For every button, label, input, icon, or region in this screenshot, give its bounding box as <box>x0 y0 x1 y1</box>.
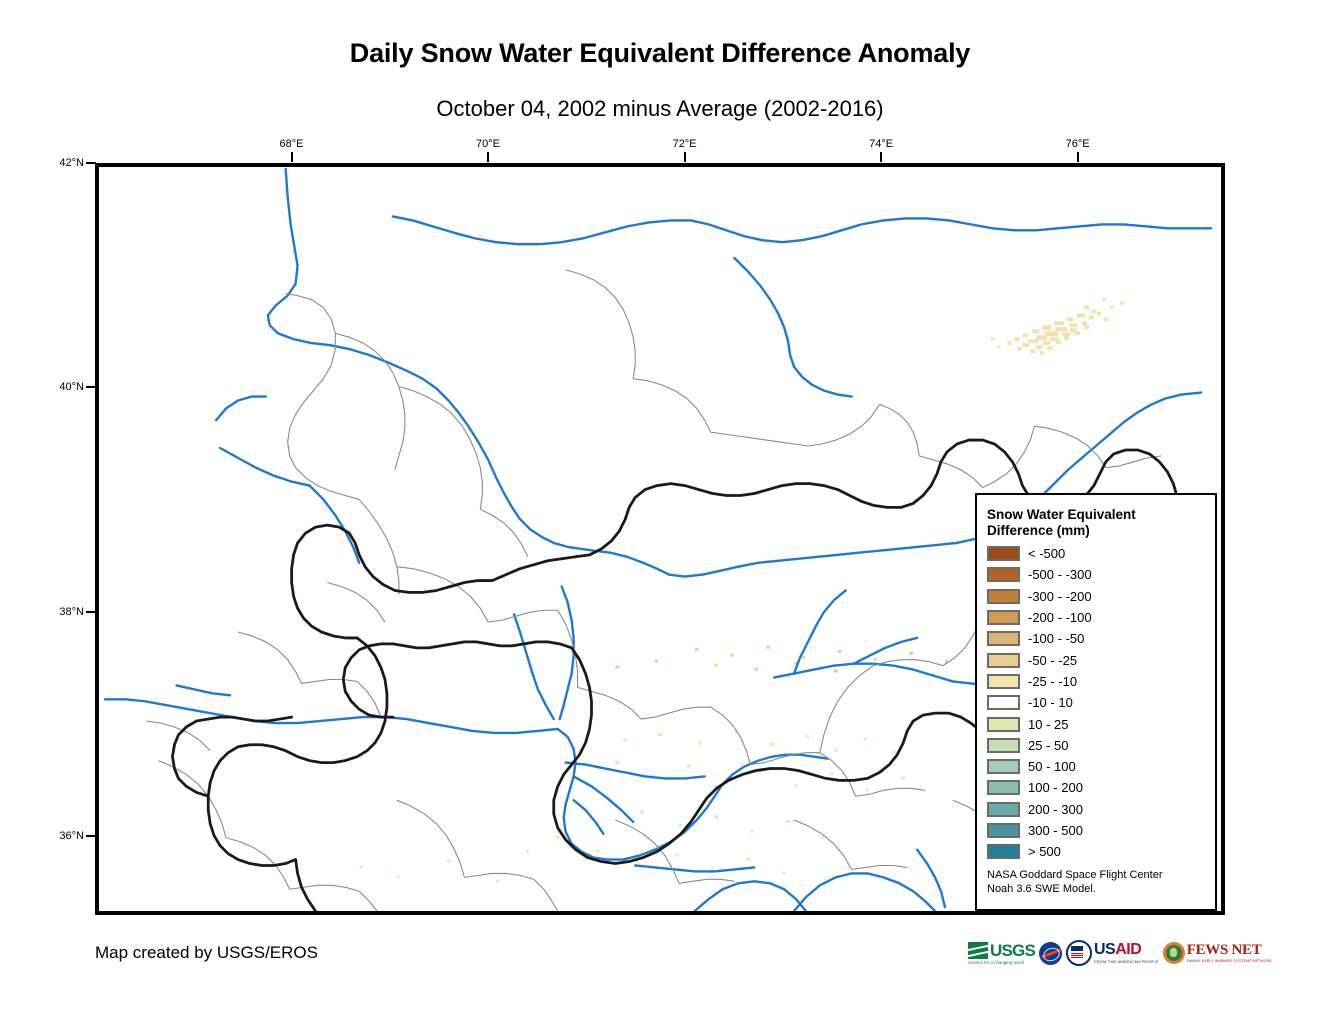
longitude-label: 74°E <box>869 138 893 150</box>
legend-label: -100 - -50 <box>1028 631 1084 646</box>
legend-label: -50 - -25 <box>1028 653 1077 668</box>
legend-row[interactable]: 200 - 300 <box>987 799 1205 820</box>
map-credit: Map created by USGS/EROS <box>95 943 318 963</box>
legend-swatch <box>987 717 1020 732</box>
legend-swatch <box>987 738 1020 753</box>
legend-source-note: NASA Goddard Space Flight Center Noah 3.… <box>987 869 1205 896</box>
latitude-label: 40°N <box>58 381 84 393</box>
legend-label: 100 - 200 <box>1028 780 1083 795</box>
legend-row[interactable]: 25 - 50 <box>987 735 1205 756</box>
usgs-logo: USGS science for a changing world <box>968 942 1035 965</box>
fewsnet-wordmark: FEWS NET <box>1187 943 1272 958</box>
map-legend[interactable]: Snow Water Equivalent Difference (mm) < … <box>975 493 1217 911</box>
legend-row[interactable]: < -500 <box>987 543 1205 564</box>
legend-swatch <box>987 631 1020 646</box>
legend-label: 10 - 25 <box>1028 717 1068 732</box>
longitude-label: 76°E <box>1066 138 1090 150</box>
legend-row[interactable]: > 500 <box>987 841 1205 862</box>
longitude-tick <box>1077 152 1079 162</box>
usgs-wave-icon <box>968 942 988 959</box>
legend-label: -10 - 10 <box>1028 695 1073 710</box>
legend-label: -200 - -100 <box>1028 610 1092 625</box>
legend-label: -300 - -200 <box>1028 589 1092 604</box>
legend-row[interactable]: -300 - -200 <box>987 586 1205 607</box>
nasa-logo <box>1039 942 1062 965</box>
longitude-tick <box>487 152 489 162</box>
longitude-tick <box>684 152 686 162</box>
page-subtitle: October 04, 2002 minus Average (2002-201… <box>0 96 1320 122</box>
legend-swatch <box>987 674 1020 689</box>
latitude-label: 42°N <box>58 157 84 169</box>
legend-row[interactable]: -50 - -25 <box>987 649 1205 670</box>
usaid-seal-icon <box>1066 940 1092 966</box>
legend-row[interactable]: -200 - -100 <box>987 607 1205 628</box>
legend-swatch <box>987 610 1020 625</box>
fewsnet-globe-icon <box>1163 942 1185 964</box>
longitude-label: 70°E <box>476 138 500 150</box>
legend-row[interactable]: 50 - 100 <box>987 756 1205 777</box>
usaid-wordmark-secondary: AID <box>1115 941 1141 958</box>
agency-logo-strip: USGS science for a changing world USAID … <box>968 933 1226 973</box>
legend-swatch <box>987 780 1020 795</box>
legend-label: > 500 <box>1028 844 1061 859</box>
usaid-wordmark-primary: US <box>1094 941 1115 958</box>
longitude-tick <box>880 152 882 162</box>
latitude-label: 36°N <box>58 830 84 842</box>
legend-title: Snow Water Equivalent Difference (mm) <box>987 507 1205 539</box>
legend-swatch <box>987 653 1020 668</box>
fewsnet-tagline: FAMINE EARLY WARNING SYSTEMS NETWORK <box>1187 959 1272 963</box>
legend-label: < -500 <box>1028 546 1065 561</box>
legend-row[interactable]: -10 - 10 <box>987 692 1205 713</box>
latitude-label: 38°N <box>58 606 84 618</box>
legend-swatch <box>987 802 1020 817</box>
legend-label: 50 - 100 <box>1028 759 1076 774</box>
usgs-wordmark: USGS <box>990 942 1035 959</box>
legend-row[interactable]: -500 - -300 <box>987 564 1205 585</box>
legend-swatch <box>987 844 1020 859</box>
legend-label: -500 - -300 <box>1028 567 1092 582</box>
legend-swatch <box>987 759 1020 774</box>
legend-swatch <box>987 567 1020 582</box>
longitude-tick <box>291 152 293 162</box>
legend-label: 300 - 500 <box>1028 823 1083 838</box>
legend-row[interactable]: 100 - 200 <box>987 777 1205 798</box>
fewsnet-logo: FEWS NET FAMINE EARLY WARNING SYSTEMS NE… <box>1163 942 1272 964</box>
legend-row[interactable]: -100 - -50 <box>987 628 1205 649</box>
usgs-tagline: science for a changing world <box>968 960 1024 965</box>
usaid-logo: USAID FROM THE AMERICAN PEOPLE <box>1066 940 1159 966</box>
legend-label: 200 - 300 <box>1028 802 1083 817</box>
page-title: Daily Snow Water Equivalent Difference A… <box>0 38 1320 69</box>
legend-swatch <box>987 695 1020 710</box>
longitude-label: 68°E <box>280 138 304 150</box>
legend-row[interactable]: 300 - 500 <box>987 820 1205 841</box>
nasa-meatball-icon <box>1039 942 1062 965</box>
legend-swatch <box>987 589 1020 604</box>
legend-row[interactable]: -25 - -10 <box>987 671 1205 692</box>
legend-label: 25 - 50 <box>1028 738 1068 753</box>
legend-class-list: < -500-500 - -300-300 - -200-200 - -100-… <box>987 543 1205 862</box>
longitude-label: 72°E <box>673 138 697 150</box>
legend-swatch <box>987 546 1020 561</box>
legend-label: -25 - -10 <box>1028 674 1077 689</box>
usaid-tagline: FROM THE AMERICAN PEOPLE <box>1094 959 1159 964</box>
legend-swatch <box>987 823 1020 838</box>
legend-row[interactable]: 10 - 25 <box>987 713 1205 734</box>
